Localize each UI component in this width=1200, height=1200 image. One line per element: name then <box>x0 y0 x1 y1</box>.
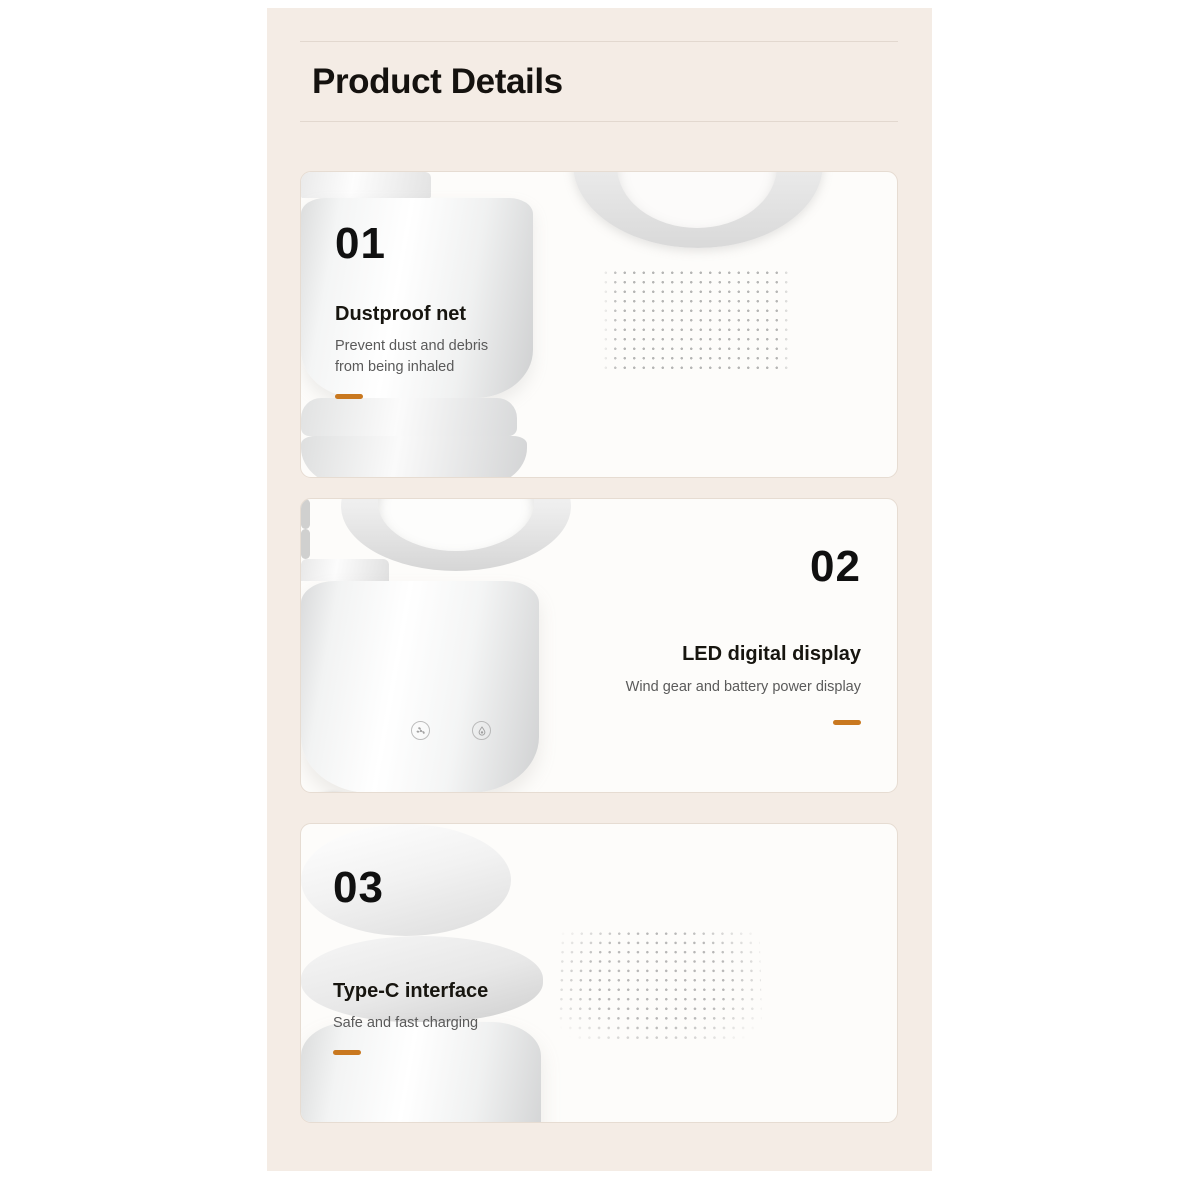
fan-neck <box>301 559 389 581</box>
feature-text-03: Type-C interface Safe and fast charging <box>333 979 488 1055</box>
accent-dash <box>335 394 363 399</box>
feature-number: 03 <box>333 866 384 910</box>
feature-card-01[interactable]: 01 Dustproof net Prevent dust and debris… <box>300 171 898 478</box>
fan-ring-vent-right <box>301 529 310 559</box>
feature-number-wrap-03: 03 <box>333 866 384 910</box>
feature-card-03[interactable]: 03 Type-C interface Safe and fast chargi… <box>300 823 898 1123</box>
fan-ring-vent-left <box>301 499 310 529</box>
feature-text-01: 01 Dustproof net Prevent dust and debris… <box>335 222 488 399</box>
fan-icon[interactable] <box>411 721 430 740</box>
feature-description: Prevent dust and debris from being inhal… <box>335 336 488 377</box>
feature-title: Type-C interface <box>333 979 488 1003</box>
feature-title: LED digital display <box>626 642 861 666</box>
feature-title: Dustproof net <box>335 302 488 326</box>
accent-dash-wrap <box>626 720 861 725</box>
feature-number: 02 <box>626 545 861 589</box>
page-title: Product Details <box>300 42 898 121</box>
fan-neck <box>301 172 431 198</box>
feature-description: Safe and fast charging <box>333 1013 488 1034</box>
accent-dash <box>833 720 861 725</box>
page-header: Product Details <box>300 41 898 122</box>
product-details-page: Product Details 01 <box>0 0 1200 1200</box>
fan-base-bottom-band <box>301 436 527 478</box>
dustproof-mesh <box>601 268 794 376</box>
fan-base-body <box>301 581 539 793</box>
feature-text-02: 02 LED digital display Wind gear and bat… <box>626 545 861 725</box>
dustproof-mesh <box>556 929 763 1040</box>
header-rule-bottom <box>300 121 898 122</box>
content-panel: Product Details 01 <box>267 8 932 1171</box>
accent-dash <box>333 1050 361 1055</box>
feature-description: Wind gear and battery power display <box>626 677 861 698</box>
fan-base-top-band <box>301 398 517 436</box>
feature-number: 01 <box>335 222 488 266</box>
product-image-type-c <box>301 824 898 1122</box>
feature-card-02[interactable]: 03 <box>300 498 898 793</box>
humidity-drop-icon[interactable] <box>472 721 491 740</box>
